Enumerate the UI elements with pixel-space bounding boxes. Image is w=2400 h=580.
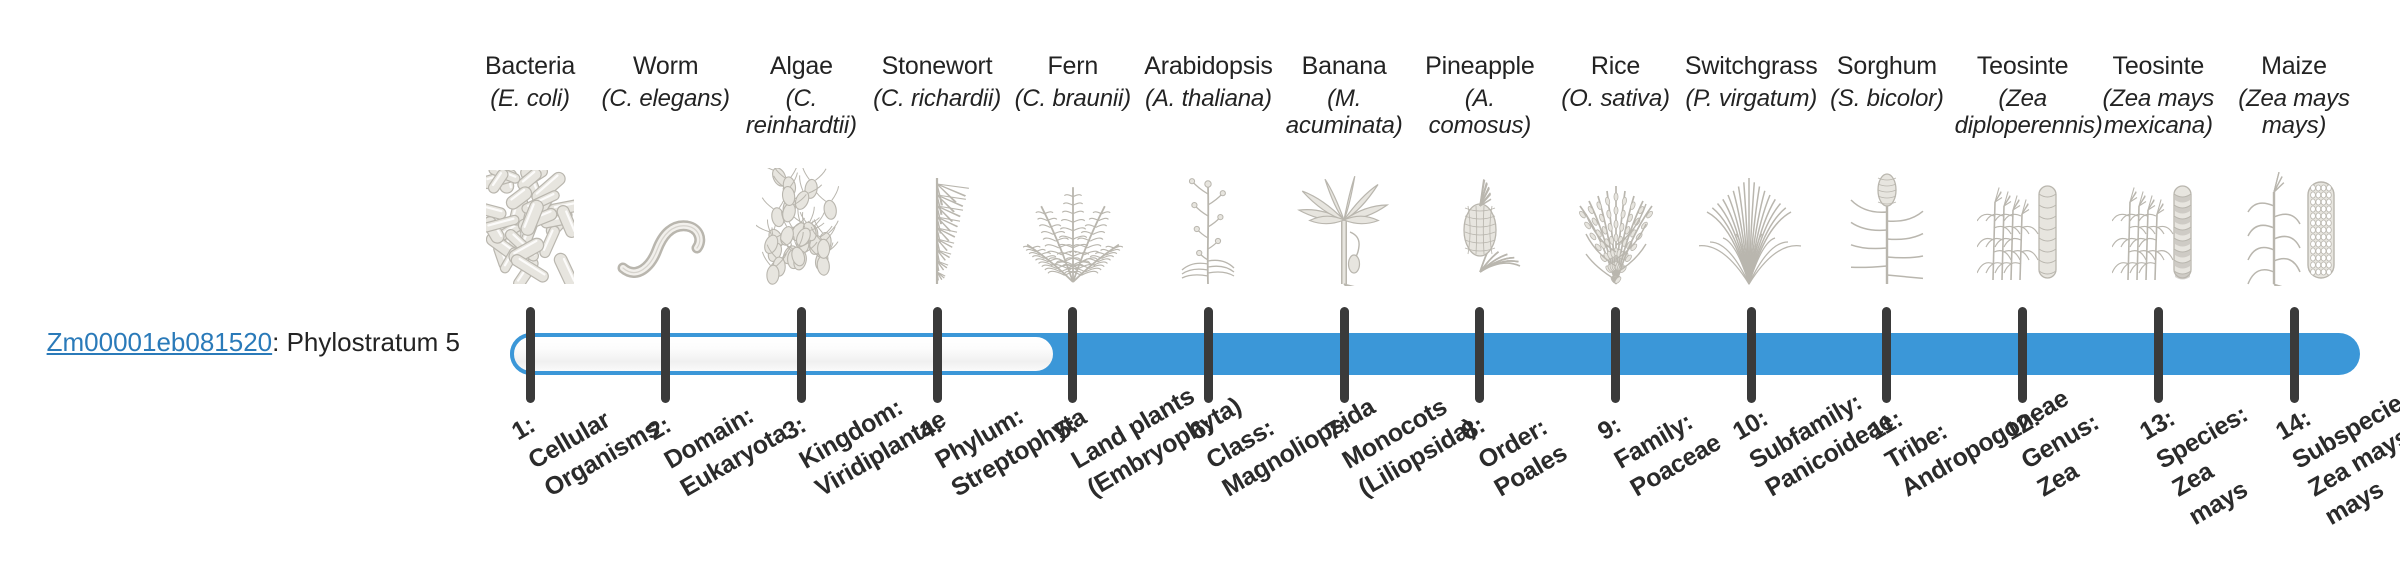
phylostratum-value: Phylostratum 5 — [287, 327, 460, 357]
phylostratum-tick-11[interactable] — [1882, 307, 1891, 403]
species-latin-name: (C. elegans) — [598, 86, 734, 113]
stonewort-icon — [869, 168, 1005, 286]
fern-icon — [1005, 168, 1141, 286]
species-latin-name: (E. coli) — [462, 86, 598, 113]
species-common-name: Teosinte — [2090, 52, 2226, 80]
phylostratum-tick-13[interactable] — [2154, 307, 2163, 403]
species-column-bacteria: Bacteria(E. coli) — [462, 52, 598, 113]
species-latin-name: (C. braunii) — [1005, 86, 1141, 113]
worm-icon — [598, 168, 734, 286]
species-common-name: Pineapple — [1412, 52, 1548, 80]
phylostratum-tick-4[interactable] — [933, 307, 942, 403]
species-latin-name: (Zea mays mexicana) — [2090, 86, 2226, 140]
species-common-name: Teosinte — [1955, 52, 2091, 80]
species-column-worm: Worm(C. elegans) — [598, 52, 734, 113]
species-column-pineapple: Pineapple(A. comosus) — [1412, 52, 1548, 140]
species-latin-name: (S. bicolor) — [1819, 86, 1955, 113]
species-column-teosinte: Teosinte(Zea diploperennis) — [1955, 52, 2091, 140]
species-column-algae: Algae(C. reinhardtii) — [733, 52, 869, 140]
species-latin-name: (P. virgatum) — [1683, 86, 1819, 113]
phylostratum-tick-3[interactable] — [797, 307, 806, 403]
species-latin-name: (O. sativa) — [1548, 86, 1684, 113]
phylostratum-tick-9[interactable] — [1611, 307, 1620, 403]
gene-label: Zm00001eb081520: Phylostratum 5 — [40, 328, 460, 357]
gene-id-link[interactable]: Zm00001eb081520 — [47, 327, 273, 357]
species-column-sorghum: Sorghum(S. bicolor) — [1819, 52, 1955, 113]
species-latin-name: (Zea mays mays) — [2226, 86, 2362, 140]
phylostratum-tick-14[interactable] — [2290, 307, 2299, 403]
switchgrass-icon — [1683, 168, 1819, 286]
species-common-name: Arabidopsis — [1140, 52, 1276, 80]
phylostratum-rank-label-8: 8: Order: Poales — [1456, 381, 1573, 505]
species-common-name: Worm — [598, 52, 734, 80]
teosinte-mex-icon — [2090, 168, 2226, 286]
species-column-rice: Rice(O. sativa) — [1548, 52, 1684, 113]
phylostratum-tick-1[interactable] — [526, 307, 535, 403]
species-column-teosinte: Teosinte(Zea mays mexicana) — [2090, 52, 2226, 140]
species-common-name: Bacteria — [462, 52, 598, 80]
species-common-name: Algae — [733, 52, 869, 80]
phylostratum-tick-5[interactable] — [1068, 307, 1077, 403]
bacteria-icon — [462, 168, 598, 286]
phylostratum-tick-2[interactable] — [661, 307, 670, 403]
species-column-stonewort: Stonewort(C. richardii) — [869, 52, 1005, 113]
phylostratigraphy-figure: Zm00001eb081520: Phylostratum 5 Bacteria… — [0, 0, 2400, 580]
banana-icon — [1276, 168, 1412, 286]
phylostratum-tick-10[interactable] — [1747, 307, 1756, 403]
species-common-name: Maize — [2226, 52, 2362, 80]
species-common-name: Banana — [1276, 52, 1412, 80]
pineapple-icon — [1412, 168, 1548, 286]
species-latin-name: (A. comosus) — [1412, 86, 1548, 140]
species-common-name: Fern — [1005, 52, 1141, 80]
phylostratum-bar-empty — [510, 333, 1057, 375]
species-column-banana: Banana(M. acuminata) — [1276, 52, 1412, 140]
phylostratum-tick-8[interactable] — [1475, 307, 1484, 403]
species-column-maize: Maize(Zea mays mays) — [2226, 52, 2362, 140]
algae-icon — [733, 168, 869, 286]
species-latin-name: (C. richardii) — [869, 86, 1005, 113]
teosinte-diplo-icon — [1955, 168, 2091, 286]
rice-icon — [1548, 168, 1684, 286]
species-common-name: Rice — [1548, 52, 1684, 80]
species-latin-name: (C. reinhardtii) — [733, 86, 869, 140]
species-common-name: Switchgrass — [1683, 52, 1819, 80]
species-latin-name: (A. thaliana) — [1140, 86, 1276, 113]
species-common-name: Sorghum — [1819, 52, 1955, 80]
species-column-arabidopsis: Arabidopsis(A. thaliana) — [1140, 52, 1276, 113]
species-column-switchgrass: Switchgrass(P. virgatum) — [1683, 52, 1819, 113]
species-common-name: Stonewort — [869, 52, 1005, 80]
maize-icon — [2226, 168, 2362, 286]
arabidopsis-icon — [1140, 168, 1276, 286]
sorghum-icon — [1819, 168, 1955, 286]
species-column-fern: Fern(C. braunii) — [1005, 52, 1141, 113]
species-latin-name: (Zea diploperennis) — [1955, 86, 2091, 140]
gene-label-separator: : — [272, 327, 286, 357]
species-latin-name: (M. acuminata) — [1276, 86, 1412, 140]
